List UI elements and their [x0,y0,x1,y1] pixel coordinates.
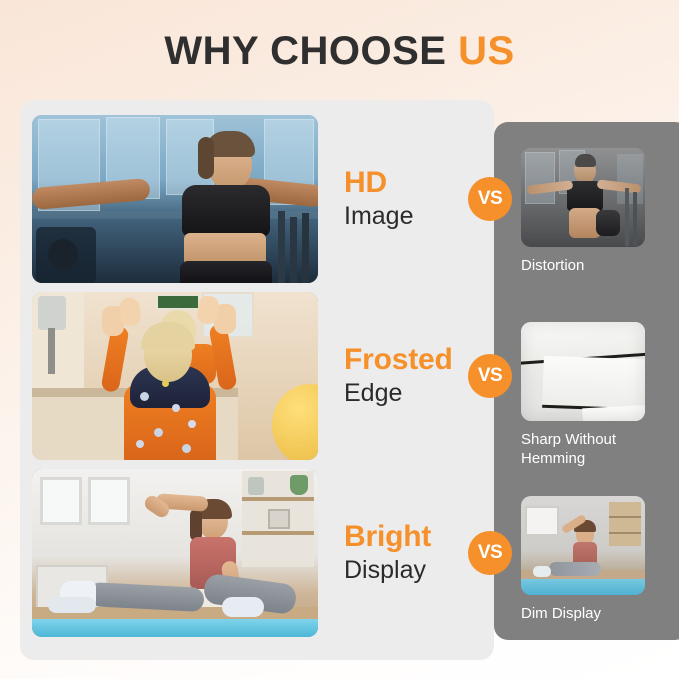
pro-subtitle-bright: Display [344,555,482,586]
header: WHY CHOOSE US [0,20,679,82]
comparison-pro-panel: HD Image [20,100,494,660]
feature-row-hd[interactable]: HD Image [32,115,482,283]
pro-image-bright [32,469,318,637]
pro-title-hd: HD [344,166,482,200]
pro-title-bright: Bright [344,520,482,554]
con-thumbnail-sharp-hemming [521,322,645,421]
con-cell-sharp-hemming[interactable]: Sharp Without Hemming [521,322,645,468]
con-thumbnail-dim-display [521,496,645,595]
pro-title-frosted: Frosted [344,343,482,377]
pro-image-frosted [32,292,318,460]
page-title-accent: US [458,29,515,73]
pro-image-hd [32,115,318,283]
pro-labels-bright: Bright Display [344,520,482,586]
pro-subtitle-frosted: Edge [344,378,482,409]
feature-row-bright[interactable]: Bright Display [32,469,482,637]
page-title-main: WHY CHOOSE [164,29,446,73]
vs-badge-hd: VS [468,177,512,221]
pro-subtitle-hd: Image [344,201,482,232]
con-caption-dim-display: Dim Display [521,604,645,623]
vs-badge-bright: VS [468,531,512,575]
page-title: WHY CHOOSE US [164,29,514,74]
pro-labels-hd: HD Image [344,166,482,232]
vs-badge-frosted: VS [468,354,512,398]
con-thumbnail-distortion [521,148,645,247]
pro-labels-frosted: Frosted Edge [344,343,482,409]
feature-row-frosted[interactable]: Frosted Edge [32,292,482,460]
con-caption-sharp-hemming: Sharp Without Hemming [521,430,645,468]
con-cell-dim-display[interactable]: Dim Display [521,496,645,623]
con-column: Distortion Sharp Without Hemming [494,122,679,640]
con-cell-distortion[interactable]: Distortion [521,148,645,275]
con-caption-distortion: Distortion [521,256,645,275]
